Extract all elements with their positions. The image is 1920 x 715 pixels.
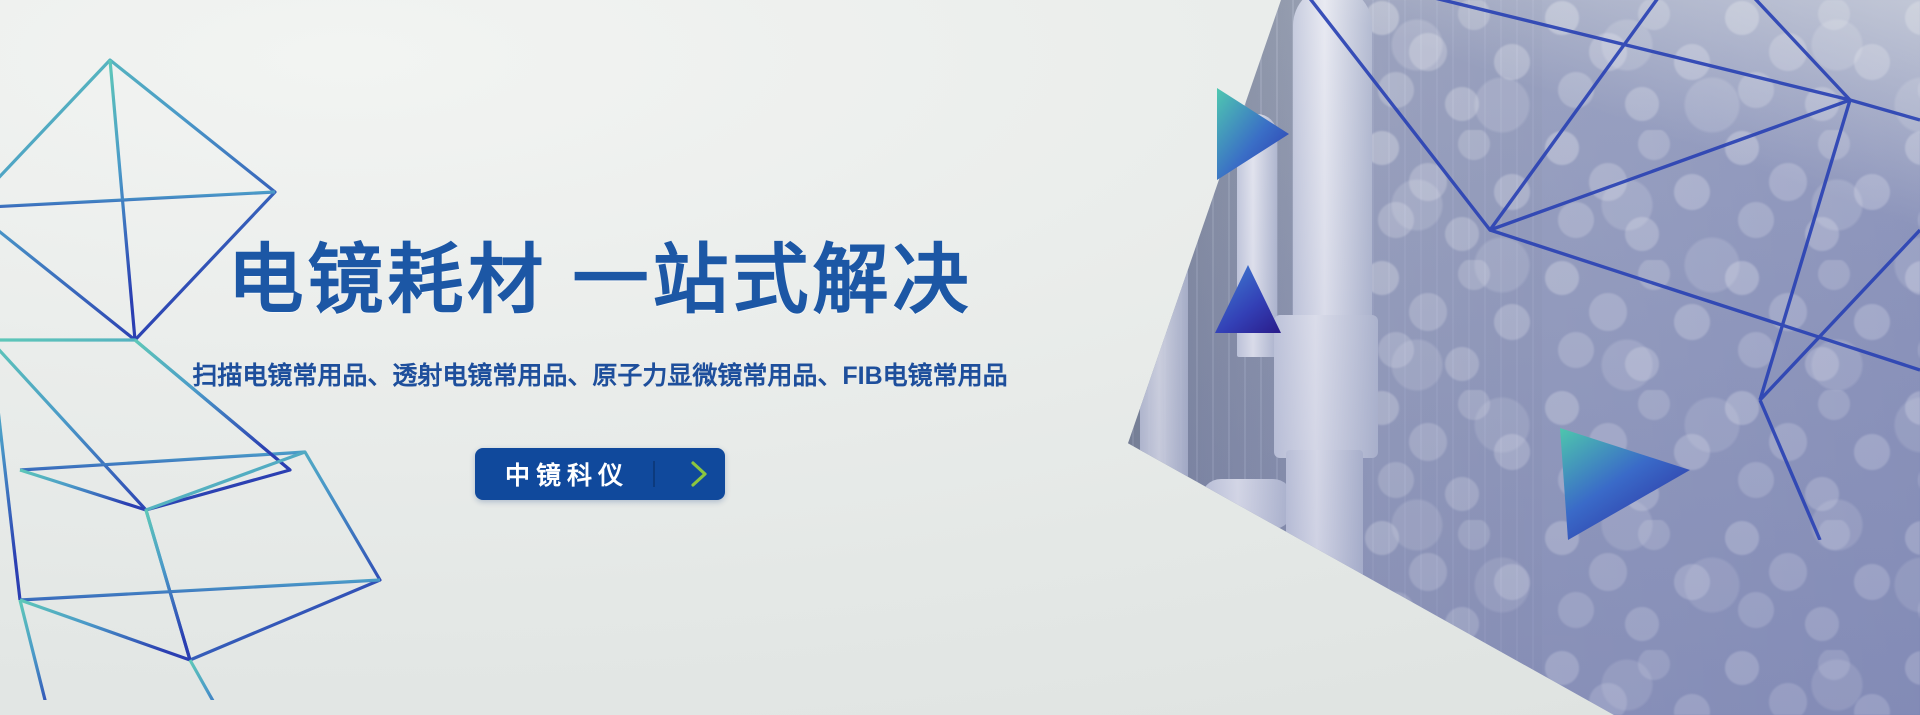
play-triangle-icon bbox=[1217, 88, 1289, 180]
hero-subtitle: 扫描电镜常用品、透射电镜常用品、原子力显微镜常用品、FIB电镜常用品 bbox=[192, 356, 1007, 392]
brand-cta-button[interactable]: 中镜科仪 bbox=[475, 448, 725, 500]
hero-banner: 电镜耗材 一站式解决 扫描电镜常用品、透射电镜常用品、原子力显微镜常用品、FIB… bbox=[0, 0, 1920, 715]
cta-label: 中镜科仪 bbox=[505, 456, 629, 492]
gradient-triangle-icon bbox=[1560, 410, 1690, 540]
page-title: 电镜耗材 一站式解决 bbox=[227, 241, 972, 321]
up-triangle-icon bbox=[1215, 265, 1281, 333]
hero-content: 电镜耗材 一站式解决 扫描电镜常用品、透射电镜常用品、原子力显微镜常用品、FIB… bbox=[0, 0, 1200, 715]
cta-divider bbox=[653, 461, 655, 487]
chevron-right-icon[interactable] bbox=[677, 460, 721, 488]
